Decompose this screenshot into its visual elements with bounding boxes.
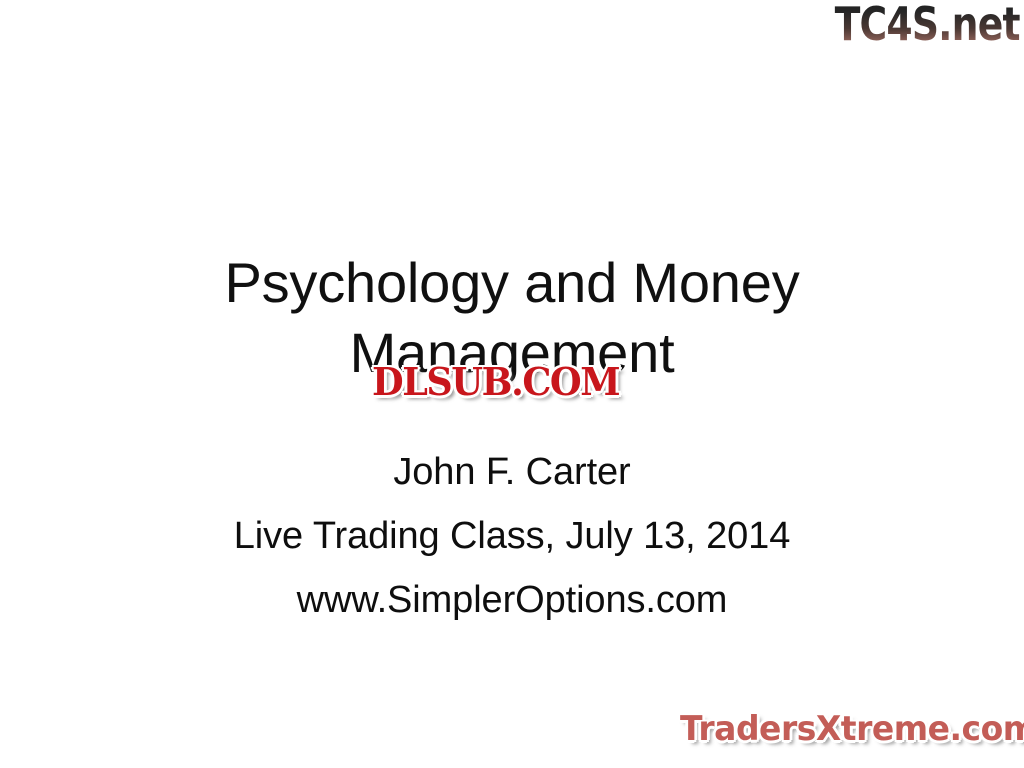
- tradersxtreme-watermark: TradersXtreme.com: [680, 707, 1024, 751]
- dlsub-watermark: DLSUB.COM: [372, 360, 619, 404]
- subtitle-line-website: www.SimplerOptions.com: [112, 568, 912, 632]
- tc4s-watermark: TC4S.net: [835, 0, 1020, 52]
- subtitle-line-presenter: John F. Carter: [112, 440, 912, 504]
- subtitle-line-event: Live Trading Class, July 13, 2014: [112, 504, 912, 568]
- slide-subtitle-block: John F. Carter Live Trading Class, July …: [112, 440, 912, 632]
- presentation-slide: TC4S.net Psychology and Money Management…: [0, 0, 1024, 768]
